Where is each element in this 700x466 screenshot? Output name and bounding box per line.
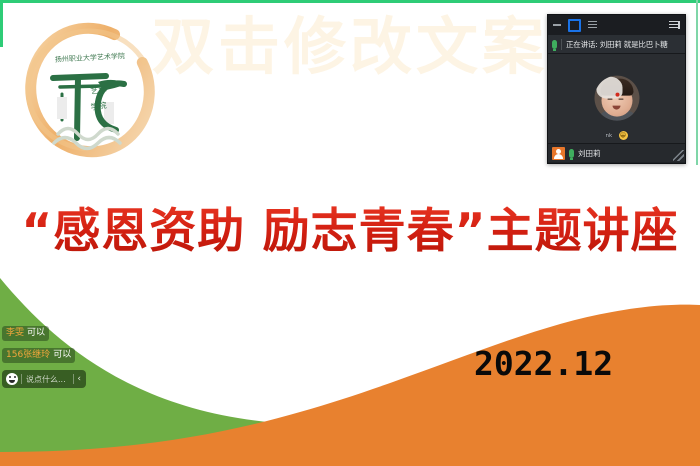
presentation-slide: 双击修改文案 扬州职业大学艺术学院 bbox=[0, 0, 700, 466]
chat-message-text: 可以 bbox=[27, 328, 45, 338]
chat-input-bar[interactable]: 说点什么... ‹ bbox=[2, 370, 86, 388]
video-meeting-window[interactable]: 正在讲话: 刘田莉 就是比巴卜糖 nk 😀 刘田莉 bbox=[547, 14, 686, 164]
frame-accent-left bbox=[0, 0, 3, 47]
date-label: 2022.12 bbox=[474, 344, 613, 383]
participant-name: 刘田莉 bbox=[578, 148, 601, 159]
video-window-titlebar[interactable] bbox=[548, 15, 685, 35]
divider bbox=[561, 39, 562, 50]
participant-avatar bbox=[594, 75, 639, 120]
chat-sender-name: 李雯 bbox=[6, 328, 24, 338]
chat-message-row: 156张继玲可以 bbox=[0, 348, 120, 370]
side-panel-icon[interactable] bbox=[669, 21, 680, 30]
chat-sender-name: 156张继玲 bbox=[6, 350, 50, 360]
chat-message-text: 可以 bbox=[53, 350, 71, 360]
watermark-text: 双击修改文案 bbox=[152, 0, 548, 86]
video-stage[interactable]: nk 😀 bbox=[548, 54, 685, 143]
microphone-icon bbox=[552, 40, 557, 49]
chevron-left-icon[interactable]: ‹ bbox=[74, 375, 84, 384]
smiley-icon[interactable] bbox=[6, 373, 18, 385]
chat-overlay: 李雯可以 156张继玲可以 说点什么... ‹ bbox=[0, 326, 120, 388]
speaking-banner: 正在讲话: 刘田莉 就是比巴卜糖 bbox=[548, 35, 685, 54]
frame-accent-right bbox=[696, 0, 698, 165]
college-seal-logo: 扬州职业大学艺术学院 艺术 学院 bbox=[20, 16, 160, 164]
screen-share-icon[interactable] bbox=[552, 147, 565, 160]
chat-message-row: 李雯可以 bbox=[0, 326, 120, 348]
chat-input-placeholder[interactable]: 说点什么... bbox=[22, 374, 73, 385]
avatar-emoji-badge: 😀 bbox=[619, 131, 628, 140]
page-title: “感恩资助 励志青春”主题讲座 bbox=[0, 192, 700, 261]
minimize-icon[interactable] bbox=[553, 24, 561, 26]
speaking-status-text: 正在讲话: 刘田莉 就是比巴卜糖 bbox=[566, 39, 668, 50]
list-view-icon[interactable] bbox=[588, 21, 597, 30]
resize-grip-icon[interactable] bbox=[673, 150, 684, 161]
video-window-footer: 刘田莉 bbox=[548, 143, 685, 162]
restore-icon[interactable] bbox=[568, 19, 581, 32]
microphone-icon[interactable] bbox=[569, 149, 574, 158]
avatar-tag: nk bbox=[606, 133, 613, 139]
frame-accent-top-left bbox=[0, 0, 132, 3]
